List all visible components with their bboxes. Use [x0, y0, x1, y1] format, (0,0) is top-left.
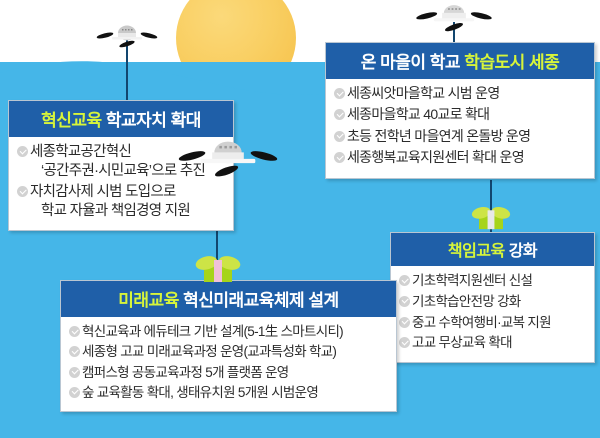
- card-innovation-title-highlight: 혁신교육: [41, 111, 102, 130]
- list-item-main: 세종씨앗마을학교 시범 운영: [347, 85, 500, 103]
- card-responsibility-title: 책임교육 강화: [391, 233, 594, 266]
- list-item-main: 자치감사제 시범 도입으로: [30, 183, 190, 202]
- check-circle-icon: [399, 296, 410, 307]
- card-village-school-title-rest: 온 마을이 학교: [361, 53, 465, 72]
- list-item-main: 세종형 고교 미래교육과정 운영(교과특성화 학교): [82, 343, 336, 360]
- list-item: 자치감사제 시범 도입으로 학교 자율과 책임경영 지원: [17, 183, 225, 220]
- gift-box-icon: [190, 256, 246, 282]
- list-item: 캠퍼스형 공동교육과정 5개 플랫폼 운영: [69, 364, 388, 381]
- check-circle-icon: [399, 275, 410, 286]
- card-future-education-title: 미래교육 혁신미래교육체제 설계: [61, 281, 396, 317]
- gift-box-icon: [467, 206, 515, 230]
- card-future-education-title-highlight: 미래교육: [118, 291, 179, 310]
- card-responsibility-body: 기초학력지원센터 신설 기초학습안전망 강화 중고 수학여행비·교복 지원 고교…: [391, 266, 594, 362]
- check-circle-icon: [334, 131, 345, 142]
- list-item: 기초학습안전망 강화: [399, 293, 586, 310]
- card-innovation-title-rest: 학교자치 확대: [102, 111, 201, 130]
- list-item: 세종씨앗마을학교 시범 운영: [334, 85, 586, 103]
- card-village-school[interactable]: 온 마을이 학교 학습도시 세종 세종씨앗마을학교 시범 운영 세종마을학교 4…: [325, 42, 595, 179]
- list-item-main: 숲 교육활동 확대, 생태유치원 5개원 시범운영: [82, 384, 318, 401]
- card-village-school-title-highlight: 학습도시 세종: [464, 53, 559, 72]
- card-responsibility[interactable]: 책임교육 강화 기초학력지원센터 신설 기초학습안전망 강화 중고 수학여행비·…: [390, 232, 595, 363]
- infographic-canvas: 혁신교육 학교자치 확대 세종학교공간혁신 ‘공간주권·시민교육’으로 추진 자…: [0, 0, 600, 438]
- list-item: 숲 교육활동 확대, 생태유치원 5개원 시범운영: [69, 384, 388, 401]
- card-village-school-body: 세종씨앗마을학교 시범 운영 세종마을학교 40교로 확대 초등 전학년 마을연…: [326, 79, 594, 178]
- list-item: 초등 전학년 마을연계 온돌방 운영: [334, 128, 586, 146]
- list-item: 고교 무상교육 확대: [399, 334, 586, 351]
- list-item: 세종마을학교 40교로 확대: [334, 106, 586, 124]
- list-item-sub: 학교 자율과 책임경영 지원: [30, 202, 190, 221]
- check-circle-icon: [334, 152, 345, 163]
- check-circle-icon: [399, 337, 410, 348]
- check-circle-icon: [334, 88, 345, 99]
- check-circle-icon: [69, 326, 80, 337]
- card-village-school-title: 온 마을이 학교 학습도시 세종: [326, 43, 594, 79]
- drone-icon: [406, 1, 502, 39]
- check-circle-icon: [17, 146, 28, 157]
- list-item-main: 초등 전학년 마을연계 온돌방 운영: [347, 128, 530, 146]
- card-responsibility-title-rest: 강화: [505, 243, 537, 260]
- list-item-main: 캠퍼스형 공동교육과정 5개 플랫폼 운영: [82, 364, 289, 381]
- list-item-main: 기초학력지원센터 신설: [412, 272, 532, 289]
- check-circle-icon: [399, 317, 410, 328]
- check-circle-icon: [69, 346, 80, 357]
- drone-icon: [92, 22, 162, 54]
- list-item: 중고 수학여행비·교복 지원: [399, 314, 586, 331]
- list-item: 세종행복교육지원센터 확대 운영: [334, 149, 586, 167]
- check-circle-icon: [69, 367, 80, 378]
- check-circle-icon: [334, 109, 345, 120]
- card-future-education-body: 혁신교육과 에듀테크 기반 설계(5-1生 스마트시티) 세종형 고교 미래교육…: [61, 317, 396, 411]
- check-circle-icon: [69, 387, 80, 398]
- card-future-education[interactable]: 미래교육 혁신미래교육체제 설계 혁신교육과 에듀테크 기반 설계(5-1生 스…: [60, 280, 397, 412]
- card-future-education-title-rest: 혁신미래교육체제 설계: [179, 291, 339, 310]
- drone-icon: [173, 138, 283, 184]
- list-item-main: 기초학습안전망 강화: [412, 293, 521, 310]
- list-item: 기초학력지원센터 신설: [399, 272, 586, 289]
- list-item-main: 세종행복교육지원센터 확대 운영: [347, 149, 524, 167]
- card-innovation-title: 혁신교육 학교자치 확대: [9, 101, 233, 137]
- list-item-main: 중고 수학여행비·교복 지원: [412, 314, 551, 331]
- list-item: 혁신교육과 에듀테크 기반 설계(5-1生 스마트시티): [69, 323, 388, 340]
- card-responsibility-title-highlight: 책임교육: [448, 243, 505, 260]
- list-item-main: 혁신교육과 에듀테크 기반 설계(5-1生 스마트시티): [82, 323, 343, 340]
- list-item-main: 고교 무상교육 확대: [412, 334, 512, 351]
- list-item: 세종형 고교 미래교육과정 운영(교과특성화 학교): [69, 343, 388, 360]
- check-circle-icon: [17, 186, 28, 197]
- list-item-main: 세종마을학교 40교로 확대: [347, 106, 489, 124]
